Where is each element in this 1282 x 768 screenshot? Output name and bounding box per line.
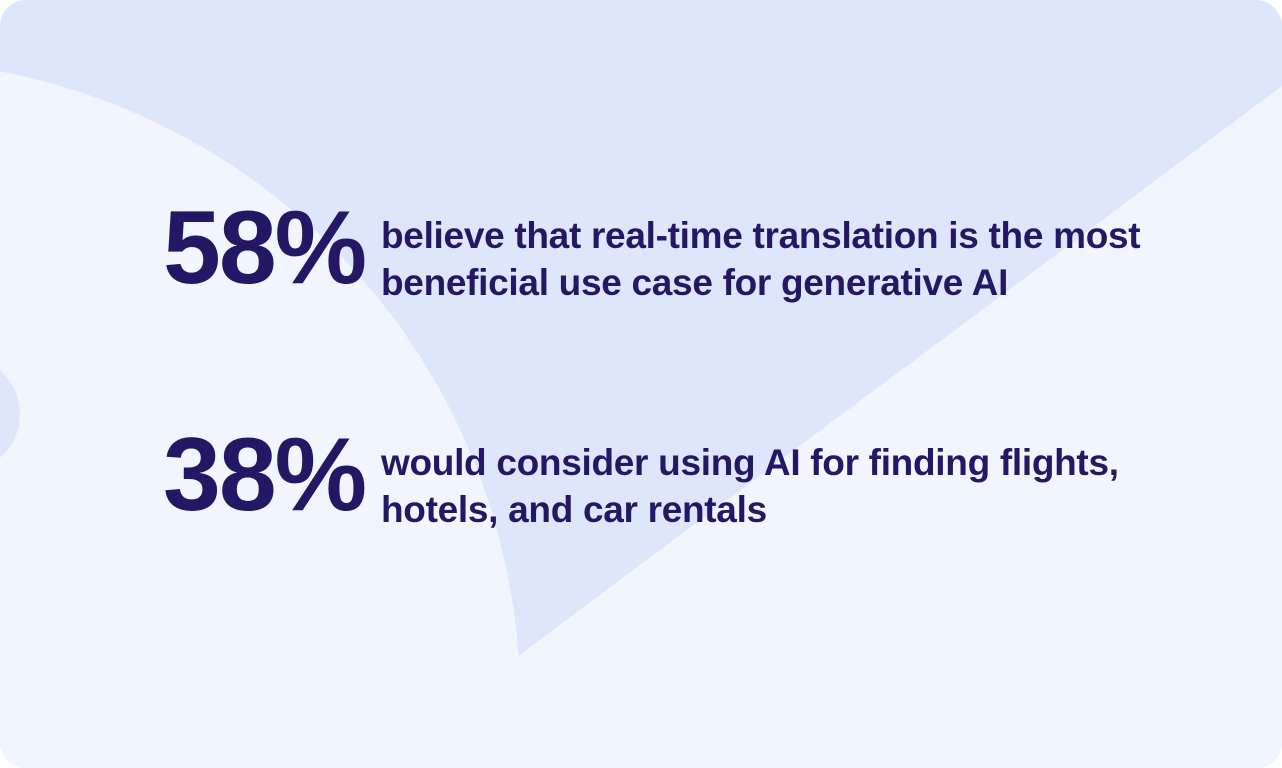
statistic-description-line: believe that real-time translation is th…	[381, 212, 1140, 259]
statistic-item: 58% believe that real-time translation i…	[0, 198, 1282, 307]
statistic-description-line: beneficial use case for generative AI	[381, 259, 1140, 306]
statistic-description-line: would consider using AI for finding flig…	[381, 439, 1119, 486]
statistic-description: would consider using AI for finding flig…	[381, 425, 1119, 534]
statistic-description: believe that real-time translation is th…	[381, 198, 1140, 307]
statistic-item: 38% would consider using AI for finding …	[0, 425, 1282, 534]
statistic-value: 38%	[163, 425, 381, 527]
statistic-description-line: hotels, and car rentals	[381, 486, 1119, 533]
infographic-card: 58% believe that real-time translation i…	[0, 0, 1282, 768]
statistic-value: 58%	[163, 198, 381, 300]
statistics-list: 58% believe that real-time translation i…	[0, 0, 1282, 768]
